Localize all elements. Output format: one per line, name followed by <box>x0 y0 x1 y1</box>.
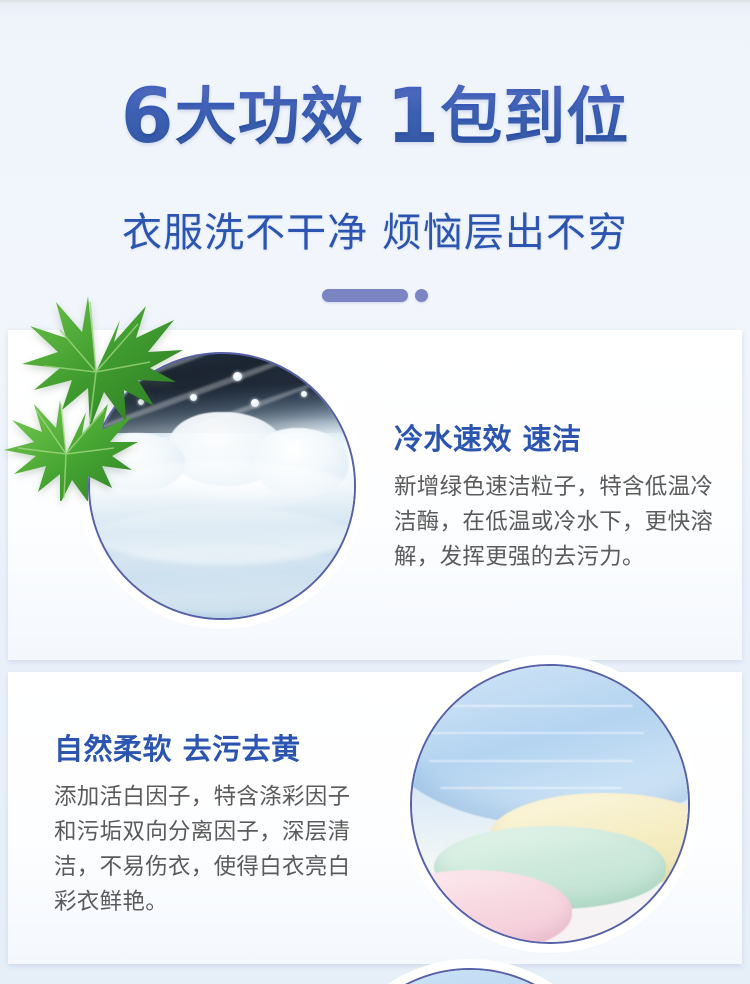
divider <box>0 286 750 304</box>
next-section-photo <box>332 970 608 984</box>
next-section-image-peek <box>330 968 610 984</box>
feature-1-body: 新增绿色速洁粒子，特含低温冷洁酶，在低温或冷水下，更快溶解，发挥更强的去污力。 <box>394 470 714 575</box>
headline-number-one: 1 <box>386 71 440 160</box>
feature-image-2 <box>410 664 690 944</box>
headline-text-one: 大功效 <box>175 80 364 153</box>
promo-page: 6大功效 1包到位 衣服洗不干净 烦恼层出不穷 冷水速效 速洁 新增绿色速洁粒子… <box>0 0 750 984</box>
page-subtitle: 衣服洗不干净 烦恼层出不穷 <box>0 200 750 258</box>
cloth-ridge <box>418 732 644 734</box>
headline-number-six: 6 <box>121 71 175 160</box>
page-title: 6大功效 1包到位 <box>0 78 750 154</box>
cloth-layer-blue <box>330 968 610 984</box>
cloth-ridge <box>423 705 633 707</box>
water-bubble <box>190 394 197 401</box>
water-wave <box>88 544 356 620</box>
laundry-splashing-in-water-photo <box>90 354 354 618</box>
headline-text-two: 包到位 <box>440 80 629 153</box>
feature-1-title: 冷水速效 速洁 <box>394 416 582 458</box>
water-bubble <box>138 399 144 405</box>
stacked-pastel-muslin-cloths-photo <box>412 666 688 942</box>
cloth-ridge <box>429 760 633 762</box>
top-edge-strip <box>0 0 750 5</box>
divider-bar <box>322 289 408 302</box>
water-bubble <box>251 399 259 407</box>
feature-2-title: 自然柔软 去污去黄 <box>54 726 301 768</box>
feature-2-body: 添加活白因子，特含涤彩因子和污垢双向分离因子，深层清洁，不易伤衣，使得白衣亮白彩… <box>54 780 372 920</box>
divider-dot <box>415 289 428 302</box>
feature-image-1 <box>88 352 356 620</box>
